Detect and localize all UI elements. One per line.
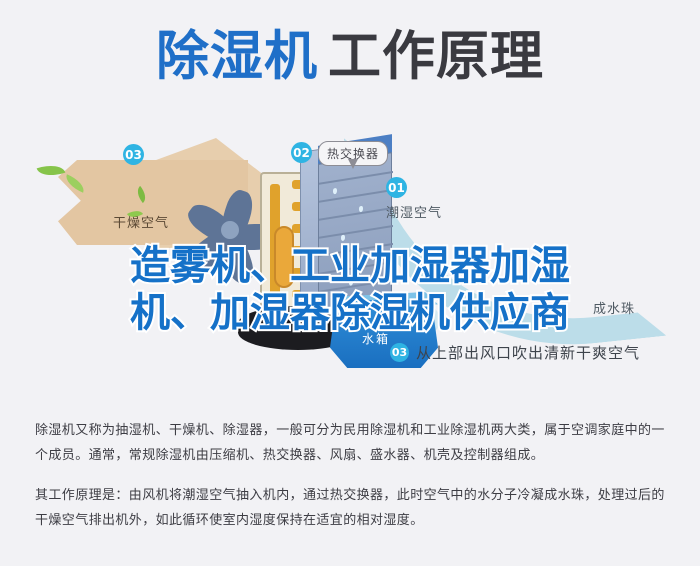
compressor-cylinder [274,226,294,288]
badge-03-dry-air: 03 [123,144,144,165]
condensation-droplet [341,235,345,242]
diagram-caption-03: 03 从上部出风口吹出清新干爽空气 [390,342,640,363]
condensation-droplet [371,254,375,261]
body-copy: 除湿机又称为抽湿机、干燥机、除湿器，一般可分为民用除湿机和工业除湿机两大类，属于… [35,418,667,539]
fin-line [319,189,393,203]
fin-line [319,279,393,293]
fin-line [319,261,393,275]
fin-line [319,243,393,257]
page-title-primary: 除湿机 [156,26,318,87]
fan-hub [218,218,242,242]
badge-01-moist-air: 01 [386,177,407,198]
fin-line [319,171,393,185]
moist-air-label: 潮湿空气 [386,202,442,221]
body-paragraph-1: 除湿机又称为抽湿机、干燥机、除湿器，一般可分为民用除湿机和工业除湿机两大类，属于… [35,418,667,469]
page-root: 除湿机工作原理 干燥空气 [0,0,700,566]
water-tank-label: 水箱 [362,330,390,347]
callout-pointer-icon [348,159,358,169]
dehumidifier-diagram: 干燥空气 [0,120,700,395]
page-title-secondary: 工作原理 [328,26,544,87]
water-droplets-label: 成水珠 [593,298,635,317]
body-paragraph-2: 其工作原理是：由风机将潮湿空气抽入机内，通过热交换器，此时空气中的水分子冷凝成水… [35,483,667,534]
heat-exchanger-fins [318,152,392,314]
diagram-caption-text: 从上部出风口吹出清新干爽空气 [416,342,640,363]
fin-line [319,225,393,239]
badge-02-heat-exchanger: 02 [291,142,312,163]
page-title: 除湿机工作原理 [0,28,700,86]
condensation-droplet [333,188,337,195]
badge-03-caption: 03 [390,343,409,362]
fin-line [319,207,393,221]
